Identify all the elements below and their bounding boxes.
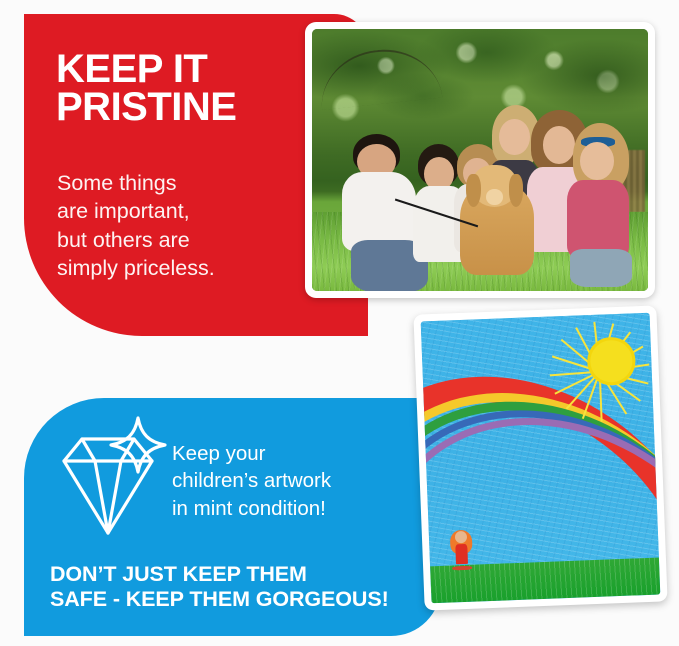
girl-in-pink-head <box>580 142 614 180</box>
subcopy-line-3: but others are <box>57 226 347 254</box>
subcopy-line-2: are important, <box>57 197 347 225</box>
blue-panel-body-text: Keep your children’s artwork in mint con… <box>172 440 437 522</box>
headline-line-2: PRISTINE <box>56 88 326 126</box>
crayon-child-figure <box>449 526 473 569</box>
artwork-photo-inner <box>421 313 661 604</box>
dog-ear-left <box>466 174 481 207</box>
blue-body-line-1: Keep your <box>172 440 437 467</box>
father-shirt <box>342 172 415 251</box>
red-panel-headline: KEEP IT PRISTINE <box>56 50 326 126</box>
blue-body-line-3: in mint condition! <box>172 495 437 522</box>
figure-body <box>455 544 468 564</box>
blue-promo-panel: Keep your children’s artwork in mint con… <box>24 398 441 636</box>
girl-in-pink-shirt <box>567 180 629 259</box>
red-panel-subcopy: Some things are important, but others ar… <box>57 169 347 283</box>
poster-canvas: KEEP IT PRISTINE Some things are importa… <box>0 0 679 646</box>
family-with-dog-photo <box>305 22 655 298</box>
subcopy-line-4: simply priceless. <box>57 254 347 282</box>
girl-in-pink-figure <box>567 123 638 280</box>
blue-headline-line-2: SAFE - KEEP THEM GORGEOUS! <box>50 587 440 612</box>
headline-line-1: KEEP IT <box>56 50 326 88</box>
childrens-crayon-artwork-photo <box>413 305 667 610</box>
dog-snout <box>486 189 502 204</box>
diamond-sparkle-icon <box>52 414 168 544</box>
blue-headline-line-1: DON’T JUST KEEP THEM <box>50 562 440 587</box>
figure-head <box>454 531 466 543</box>
blue-panel-headline: DON’T JUST KEEP THEM SAFE - KEEP THEM GO… <box>50 562 440 612</box>
teen-girl-head <box>499 119 530 155</box>
family-photo-inner <box>312 29 648 291</box>
subcopy-line-1: Some things <box>57 169 347 197</box>
girl-in-pink-trousers <box>570 249 632 287</box>
golden-retriever-dog <box>460 165 534 275</box>
blue-body-line-2: children’s artwork <box>172 467 437 494</box>
